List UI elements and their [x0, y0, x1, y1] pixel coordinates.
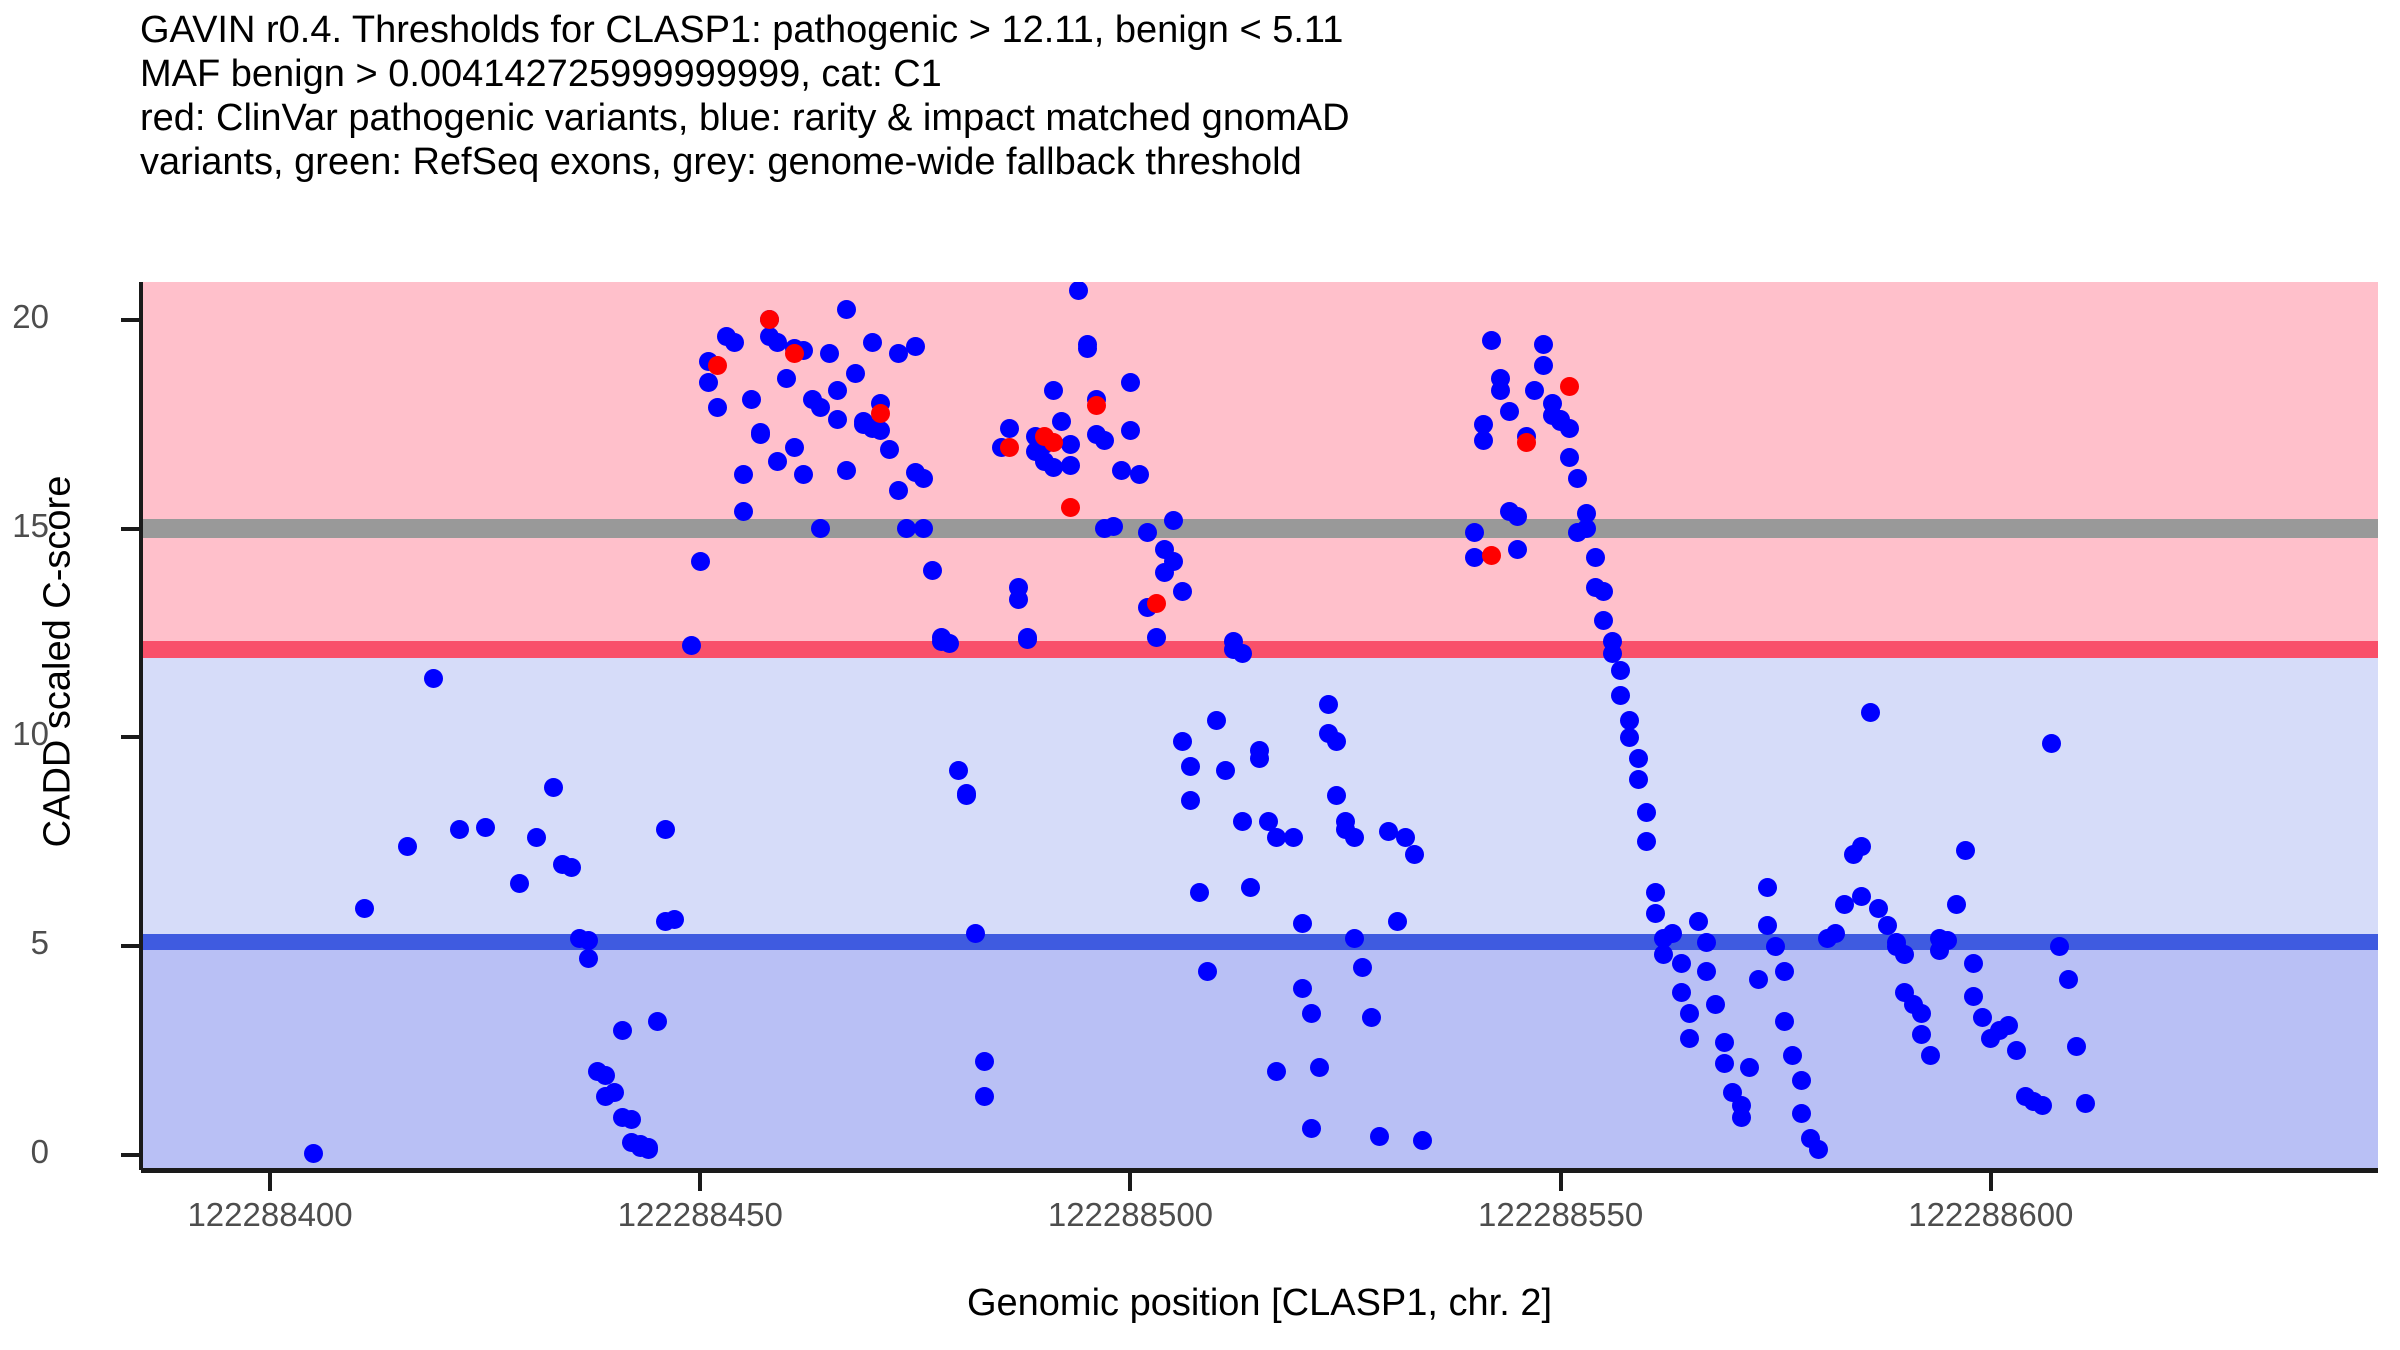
gnomad-point: [1680, 1004, 1699, 1023]
gnomad-point: [1938, 931, 1957, 950]
x-tick-mark: [1989, 1173, 1993, 1191]
gnomad-point: [1345, 828, 1364, 847]
gnomad-point: [880, 440, 899, 459]
gnomad-point: [665, 910, 684, 929]
gnomad-point: [1379, 822, 1398, 841]
gnomad-point: [398, 837, 417, 856]
gnomad-point: [2042, 734, 2061, 753]
y-tick-label: 10: [12, 715, 49, 753]
gnomad-point: [1852, 837, 1871, 856]
gnomad-point: [1732, 1108, 1751, 1127]
x-tick-mark: [268, 1173, 272, 1191]
band-pathogenic: [141, 282, 2378, 649]
gnomad-point: [1112, 461, 1131, 480]
gnomad-point: [1775, 962, 1794, 981]
x-tick-mark: [698, 1173, 702, 1191]
pathogenic-threshold-line: [141, 641, 2378, 658]
gnomad-point: [562, 858, 581, 877]
gnomad-point: [1216, 761, 1235, 780]
clinvar-point: [785, 344, 804, 363]
gnomad-point: [889, 481, 908, 500]
gnomad-point: [1594, 582, 1613, 601]
y-tick-mark: [121, 735, 139, 739]
gnomad-point: [613, 1021, 632, 1040]
gnomad-point: [1233, 812, 1252, 831]
y-tick-mark: [121, 944, 139, 948]
clinvar-point: [1044, 433, 1063, 452]
plot-area: CADD scaled C-score Genomic position [CL…: [0, 0, 2400, 1350]
gnomad-point: [1388, 912, 1407, 931]
y-tick-mark: [121, 527, 139, 531]
gnomad-point: [1766, 937, 1785, 956]
gnomad-point: [2033, 1096, 2052, 1115]
gnomad-point: [1500, 402, 1519, 421]
gnomad-point: [708, 398, 727, 417]
gnomad-point: [794, 465, 813, 484]
gnomad-point: [1999, 1016, 2018, 1035]
gnomad-point: [1956, 841, 1975, 860]
band-intermediate: [141, 649, 2378, 942]
clinvar-point: [1087, 396, 1106, 415]
gnomad-point: [837, 300, 856, 319]
gnomad-point: [863, 333, 882, 352]
gnomad-point: [1560, 419, 1579, 438]
benign-threshold-line: [141, 934, 2378, 950]
gnomad-point: [1302, 1119, 1321, 1138]
gnomad-point: [1715, 1033, 1734, 1052]
gnomad-point: [1474, 431, 1493, 450]
gnomad-point: [1629, 749, 1648, 768]
gnomad-point: [751, 423, 770, 442]
clinvar-point: [1560, 377, 1579, 396]
gnomad-point: [450, 820, 469, 839]
gnomad-point: [1973, 1008, 1992, 1027]
gnomad-point: [1758, 916, 1777, 935]
gnomad-point: [846, 364, 865, 383]
clinvar-point: [1147, 594, 1166, 613]
x-axis-line: [141, 1168, 2378, 1173]
gnomad-point: [820, 344, 839, 363]
gnomad-point: [923, 561, 942, 580]
gnomad-point: [1783, 1046, 1802, 1065]
x-tick-mark: [1559, 1173, 1563, 1191]
gnomad-point: [1560, 448, 1579, 467]
gnomad-point: [1044, 381, 1063, 400]
gnomad-point: [1508, 507, 1527, 526]
gnomad-point: [1044, 458, 1063, 477]
gnomad-point: [1947, 895, 1966, 914]
gnomad-point: [1345, 929, 1364, 948]
gnomad-point: [1672, 983, 1691, 1002]
gnomad-point: [1586, 548, 1605, 567]
gnomad-point: [1293, 914, 1312, 933]
gnomad-point: [1672, 954, 1691, 973]
gnomad-point: [1629, 770, 1648, 789]
gnomad-point: [1121, 373, 1140, 392]
gnomad-point: [1594, 611, 1613, 630]
gnomad-point: [2076, 1094, 2095, 1113]
gnomad-point: [1319, 695, 1338, 714]
y-axis-line: [139, 282, 143, 1170]
gnomad-point: [811, 398, 830, 417]
gnomad-point: [639, 1140, 658, 1159]
clinvar-point: [1517, 433, 1536, 452]
gnomad-point: [1353, 958, 1372, 977]
gnomad-point: [1293, 979, 1312, 998]
gnomad-point: [2050, 937, 2069, 956]
y-tick-label: 20: [12, 298, 49, 336]
gnomad-point: [1715, 1054, 1734, 1073]
gnomad-point: [304, 1144, 323, 1163]
gnomad-point: [1861, 703, 1880, 722]
gnomad-point: [1173, 732, 1192, 751]
gnomad-point: [1474, 415, 1493, 434]
gnomad-point: [1491, 381, 1510, 400]
gnomad-point: [1620, 728, 1639, 747]
gnomad-point: [1646, 883, 1665, 902]
gnomad-point: [1147, 628, 1166, 647]
x-tick-label: 122288450: [618, 1196, 783, 1234]
gnomad-point: [476, 818, 495, 837]
x-tick-mark: [1128, 1173, 1132, 1191]
y-tick-label: 5: [31, 924, 49, 962]
clinvar-point: [708, 356, 727, 375]
x-tick-label: 122288600: [1908, 1196, 2073, 1234]
gnomad-point: [906, 337, 925, 356]
gnomad-point: [1964, 954, 1983, 973]
fallback-threshold-line: [141, 519, 2378, 538]
gnomad-point: [1577, 519, 1596, 538]
gnomad-point: [579, 931, 598, 950]
chart-root: GAVIN r0.4. Thresholds for CLASP1: patho…: [0, 0, 2400, 1350]
clinvar-point: [760, 310, 779, 329]
gnomad-point: [1534, 335, 1553, 354]
y-tick-mark: [121, 1153, 139, 1157]
gnomad-point: [1405, 845, 1424, 864]
x-tick-label: 122288500: [1048, 1196, 1213, 1234]
gnomad-point: [1646, 904, 1665, 923]
gnomad-point: [889, 344, 908, 363]
gnomad-point: [1508, 540, 1527, 559]
gnomad-point: [1078, 335, 1097, 354]
x-tick-label: 122288550: [1478, 1196, 1643, 1234]
gnomad-point: [1534, 356, 1553, 375]
gnomad-point: [1809, 1140, 1828, 1159]
gnomad-point: [1181, 791, 1200, 810]
gnomad-point: [975, 1052, 994, 1071]
gnomad-point: [975, 1087, 994, 1106]
gnomad-point: [1190, 883, 1209, 902]
y-tick-label: 15: [12, 507, 49, 545]
clinvar-point: [1000, 438, 1019, 457]
gnomad-point: [1164, 511, 1183, 530]
gnomad-point: [2059, 970, 2078, 989]
gnomad-point: [1302, 1004, 1321, 1023]
gnomad-point: [1689, 912, 1708, 931]
gnomad-point: [734, 502, 753, 521]
gnomad-point: [1130, 465, 1149, 484]
gnomad-point: [777, 369, 796, 388]
gnomad-point: [1921, 1046, 1940, 1065]
y-tick-mark: [121, 318, 139, 322]
gnomad-point: [1250, 749, 1269, 768]
gnomad-point: [1775, 1012, 1794, 1031]
x-axis-title: Genomic position [CLASP1, chr. 2]: [141, 1282, 2378, 1325]
gnomad-point: [1758, 878, 1777, 897]
gnomad-point: [1061, 456, 1080, 475]
gnomad-point: [1362, 1008, 1381, 1027]
gnomad-point: [1173, 582, 1192, 601]
gnomad-point: [742, 390, 761, 409]
gnomad-point: [1852, 887, 1871, 906]
gnomad-point: [1792, 1104, 1811, 1123]
clinvar-point: [1061, 498, 1080, 517]
gnomad-point: [1792, 1071, 1811, 1090]
gnomad-point: [699, 373, 718, 392]
gnomad-point: [837, 461, 856, 480]
gnomad-point: [785, 438, 804, 457]
gnomad-point: [1104, 517, 1123, 536]
band-benign: [141, 942, 2378, 1170]
x-tick-label: 122288400: [187, 1196, 352, 1234]
gnomad-point: [734, 465, 753, 484]
gnomad-point: [1018, 630, 1037, 649]
scatter-panel: [141, 282, 2378, 1170]
gnomad-point: [605, 1083, 624, 1102]
gnomad-point: [1680, 1029, 1699, 1048]
y-tick-label: 0: [31, 1133, 49, 1171]
gnomad-point: [1121, 421, 1140, 440]
gnomad-point: [648, 1012, 667, 1031]
